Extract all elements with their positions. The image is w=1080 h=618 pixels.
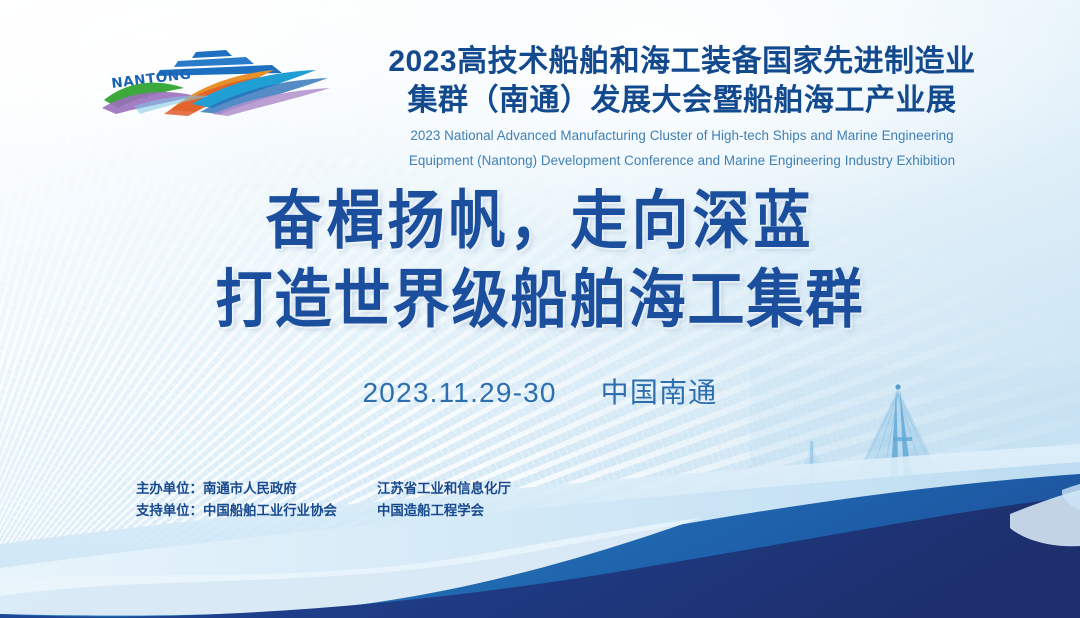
organizer-support-1: 中国船舶工业行业协会 [203,500,377,522]
event-dateline: 2023.11.29-30 中国南通 [0,374,1080,412]
event-date: 2023.11.29-30 [363,377,557,408]
organizer-host-1: 南通市人民政府 [203,478,377,500]
slogan-line2: 打造世界级船舶海工集群 [0,261,1080,339]
organizer-label-host: 主办单位： [136,478,203,500]
poster-header: NANTONG 2023高技术船舶和海工装备国家先进制造业 集群（南通）发展大会… [0,0,1080,165]
conference-poster: NANTONG 2023高技术船舶和海工装备国家先进制造业 集群（南通）发展大会… [0,0,1080,618]
header-titles: 2023高技术船舶和海工装备国家先进制造业 集群（南通）发展大会暨船舶海工产业展… [368,42,996,169]
organizer-block: 主办单位： 南通市人民政府 江苏省工业和信息化厅 支持单位： 中国船舶工业行业协… [136,478,511,521]
organizer-row-support: 支持单位： 中国船舶工业行业协会 中国造船工程学会 [136,500,511,522]
organizer-label-support: 支持单位： [136,500,203,522]
event-location: 中国南通 [601,377,718,408]
title-cn-line1: 2023高技术船舶和海工装备国家先进制造业 [368,42,996,81]
organizer-row-host: 主办单位： 南通市人民政府 江苏省工业和信息化厅 [136,478,511,500]
title-en-line1: 2023 National Advanced Manufacturing Clu… [368,127,996,145]
organizer-host-2: 江苏省工业和信息化厅 [377,478,511,500]
title-cn-line2: 集群（南通）发展大会暨船舶海工产业展 [368,81,996,120]
slogan-line1: 奋楫扬帆，走向深蓝 [0,182,1080,260]
nantong-ship-logo: NANTONG [100,48,332,116]
title-en-line2: Equipment (Nantong) Development Conferen… [368,152,996,170]
poster-slogan: 奋楫扬帆，走向深蓝 打造世界级船舶海工集群 [0,186,1080,335]
organizer-support-2: 中国造船工程学会 [377,500,484,522]
